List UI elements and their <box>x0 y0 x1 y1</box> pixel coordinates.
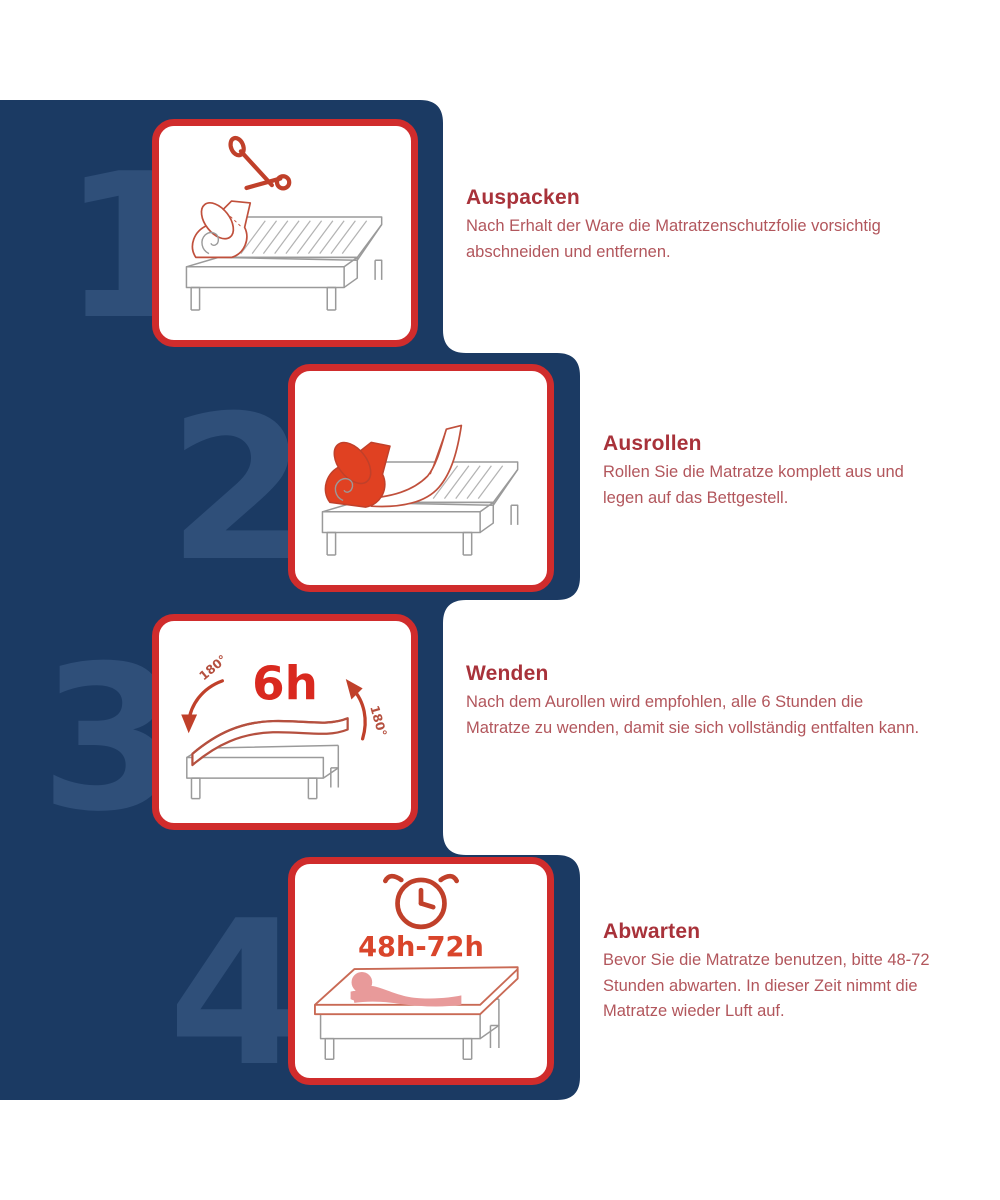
step-title-1: Auspacken <box>466 186 886 210</box>
step-body-4: Bevor Sie die Matratze benutzen, bitte 4… <box>603 948 963 1025</box>
alarm-clock-icon <box>385 876 456 927</box>
step-title-3: Wenden <box>466 662 926 686</box>
step-text-4: Abwarten Bevor Sie die Matratze benutzen… <box>603 920 963 1025</box>
step-number-4: 4 <box>168 895 303 1095</box>
duration-6h-label: 6h <box>252 658 318 712</box>
step-body-2: Rollen Sie die Matratze komplett aus und… <box>603 460 943 511</box>
scissors-icon <box>228 136 289 188</box>
infographic-root: 1 2 3 4 <box>0 0 1000 1200</box>
illustration-unroll <box>295 371 547 585</box>
step-card-1[interactable] <box>152 119 418 347</box>
step-card-2[interactable] <box>288 364 554 592</box>
step-text-2: Ausrollen Rollen Sie die Matratze komple… <box>603 432 943 511</box>
step-body-1: Nach Erhalt der Ware die Matratzenschutz… <box>466 214 886 265</box>
step-card-3[interactable]: 6h 180° 180° <box>152 614 418 830</box>
illustration-unpack <box>159 126 411 340</box>
rotation-left-label: 180° <box>197 652 230 683</box>
rotation-right-label: 180° <box>367 704 389 738</box>
step-body-3: Nach dem Aurollen wird empfohlen, alle 6… <box>466 690 926 741</box>
step-title-2: Ausrollen <box>603 432 943 456</box>
duration-48-72h-label: 48h-72h <box>358 932 484 963</box>
step-title-4: Abwarten <box>603 920 963 944</box>
step-card-4[interactable]: 48h-72h <box>288 857 554 1085</box>
rotate-arrow-left-head <box>181 715 197 734</box>
illustration-flip: 6h 180° 180° <box>159 621 411 823</box>
step-text-1: Auspacken Nach Erhalt der Ware die Matra… <box>466 186 886 265</box>
step-number-2: 2 <box>168 390 303 590</box>
step-text-3: Wenden Nach dem Aurollen wird empfohlen,… <box>466 662 926 741</box>
illustration-wait: 48h-72h <box>295 864 547 1078</box>
